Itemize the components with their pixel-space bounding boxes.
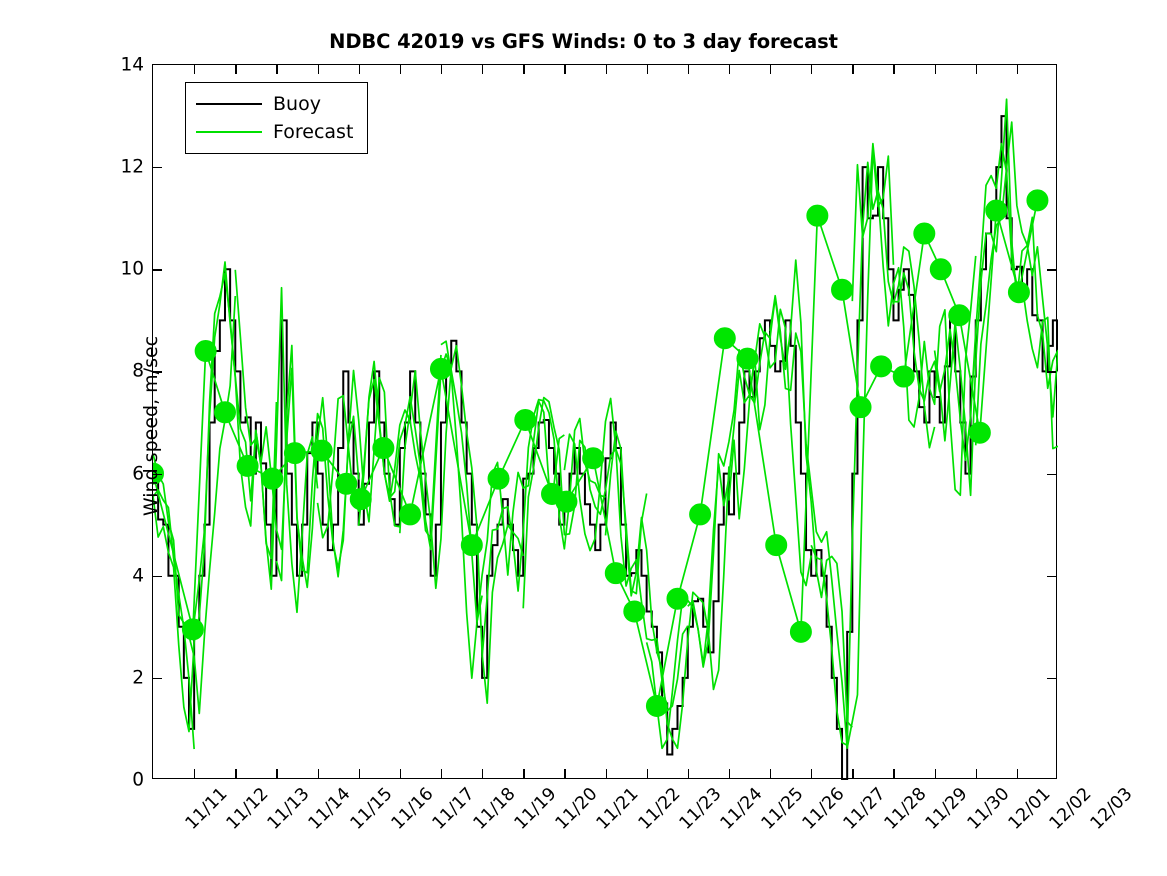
x-tick-mark [276, 65, 277, 74]
x-tick-mark [1017, 65, 1018, 74]
forecast-marker-point [969, 422, 990, 443]
forecast-marker-point [832, 279, 853, 300]
y-tick-label: 2 [132, 667, 144, 688]
y-tick-mark [153, 678, 162, 679]
forecast-run-line [647, 332, 770, 748]
y-tick-label: 8 [132, 361, 144, 382]
x-tick-label: 11/13 [264, 784, 314, 834]
x-tick-mark [976, 65, 977, 74]
x-tick-mark [852, 65, 853, 74]
forecast-run-line [893, 144, 1016, 461]
x-tick-mark [523, 65, 524, 74]
forecast-marker-point [311, 440, 332, 461]
y-tick-mark [153, 167, 162, 168]
x-tick-mark [935, 769, 936, 778]
x-tick-mark [647, 65, 648, 74]
x-tick-mark [770, 769, 771, 778]
figure-canvas: NDBC 42019 vs GFS Winds: 0 to 3 day fore… [0, 0, 1167, 875]
forecast-marker-point [1027, 190, 1048, 211]
x-tick-mark [235, 65, 236, 74]
forecast-marker-point [556, 491, 577, 512]
forecast-marker-point [949, 305, 970, 326]
x-tick-label: 11/28 [881, 784, 931, 834]
x-tick-label: 11/20 [552, 784, 602, 834]
forecast-marker-point [737, 348, 758, 369]
legend-swatch-forecast [196, 131, 262, 133]
legend-item-forecast: Forecast [196, 118, 353, 146]
y-tick-label: 6 [132, 463, 144, 484]
forecast-marker-point [214, 402, 235, 423]
x-tick-mark [482, 65, 483, 74]
x-tick-mark [811, 769, 812, 778]
forecast-marker-point [766, 535, 787, 556]
x-tick-label: 11/11 [182, 784, 232, 834]
x-tick-label: 11/19 [511, 784, 561, 834]
x-tick-mark [235, 769, 236, 778]
x-tick-mark [482, 769, 483, 778]
x-tick-mark [194, 769, 195, 778]
x-tick-mark [318, 769, 319, 778]
x-tick-mark [647, 769, 648, 778]
y-tick-mark [153, 269, 162, 270]
x-tick-mark [606, 65, 607, 74]
x-tick-label: 11/23 [675, 784, 725, 834]
forecast-marker-point [195, 341, 216, 362]
forecast-marker-point [930, 259, 951, 280]
x-tick-label: 11/22 [634, 784, 684, 834]
x-tick-mark [441, 65, 442, 74]
legend-label-forecast: Forecast [273, 123, 353, 142]
x-tick-label: 12/02 [1046, 784, 1096, 834]
legend-swatch-buoy [196, 103, 262, 105]
x-tick-label: 11/14 [305, 784, 355, 834]
forecast-marker-point [430, 358, 451, 379]
x-tick-mark [852, 769, 853, 778]
forecast-marker-point [624, 601, 645, 622]
forecast-marker-point [871, 356, 892, 377]
x-tick-mark [441, 769, 442, 778]
forecast-marker-point [373, 438, 394, 459]
legend-label-buoy: Buoy [273, 95, 321, 114]
x-tick-label: 12/03 [1087, 784, 1137, 834]
forecast-marker-point [914, 223, 935, 244]
forecast-marker-point [515, 409, 536, 430]
x-tick-label: 11/17 [429, 784, 479, 834]
x-tick-mark [523, 769, 524, 778]
forecast-run-line [482, 400, 605, 658]
forecast-marker-point [667, 588, 688, 609]
x-tick-mark [729, 65, 730, 74]
legend: Buoy Forecast [185, 82, 368, 154]
forecast-marker-point [714, 328, 735, 349]
x-tick-label: 11/30 [963, 784, 1013, 834]
x-tick-mark [811, 65, 812, 74]
x-tick-mark [564, 769, 565, 778]
x-tick-label: 11/12 [223, 784, 273, 834]
series-forecast [153, 99, 1058, 749]
x-tick-mark [893, 769, 894, 778]
forecast-marker-point [400, 504, 421, 525]
forecast-marker-point [893, 366, 914, 387]
x-tick-label: 11/18 [470, 784, 520, 834]
x-tick-mark [400, 769, 401, 778]
x-tick-mark [359, 769, 360, 778]
y-tick-mark [1047, 269, 1056, 270]
forecast-marker-point [850, 397, 871, 418]
forecast-marker-point [284, 443, 305, 464]
x-tick-mark [976, 769, 977, 778]
y-tick-mark [153, 371, 162, 372]
forecast-run-line [359, 354, 482, 622]
forecast-marker-point [605, 563, 626, 584]
forecast-marker-point [262, 468, 283, 489]
forecast-marker-point [583, 448, 604, 469]
x-tick-label: 11/29 [922, 784, 972, 834]
forecast-marker-point [488, 468, 509, 489]
x-tick-label: 11/21 [593, 784, 643, 834]
x-tick-label: 11/26 [799, 784, 849, 834]
plot-canvas [153, 65, 1058, 780]
y-tick-mark [1047, 678, 1056, 679]
y-tick-mark [153, 474, 162, 475]
x-tick-label: 11/27 [840, 784, 890, 834]
forecast-marker-point [790, 621, 811, 642]
forecast-run-line [935, 99, 1058, 495]
forecast-run-line [729, 260, 852, 727]
x-tick-mark [688, 769, 689, 778]
x-tick-mark [893, 65, 894, 74]
legend-item-buoy: Buoy [196, 90, 353, 118]
x-tick-mark [318, 65, 319, 74]
y-tick-mark [153, 576, 162, 577]
forecast-marker-point [986, 200, 1007, 221]
x-tick-mark [770, 65, 771, 74]
x-tick-mark [729, 769, 730, 778]
page-title: NDBC 42019 vs GFS Winds: 0 to 3 day fore… [0, 30, 1167, 53]
plot-area: Wind speed, m/sec 02468101214 11/1111/12… [152, 64, 1057, 779]
y-tick-label: 4 [132, 565, 144, 586]
forecast-marker-point [807, 205, 828, 226]
x-tick-label: 11/24 [717, 784, 767, 834]
forecast-markers [153, 190, 1048, 717]
x-tick-mark [935, 65, 936, 74]
x-tick-mark [606, 769, 607, 778]
y-tick-mark [1047, 576, 1056, 577]
x-tick-mark [564, 65, 565, 74]
x-tick-mark [400, 65, 401, 74]
x-tick-label: 11/15 [346, 784, 396, 834]
forecast-marker-point [1008, 282, 1029, 303]
forecast-marker-point [646, 695, 667, 716]
forecast-marker-point [182, 619, 203, 640]
forecast-marker-point [237, 455, 258, 476]
forecast-run-line [153, 490, 194, 749]
forecast-marker-point [350, 489, 371, 510]
y-tick-label: 14 [120, 55, 144, 76]
x-tick-label: 11/16 [387, 784, 437, 834]
y-tick-mark [1047, 167, 1056, 168]
y-tick-mark [1047, 371, 1056, 372]
x-tick-mark [276, 769, 277, 778]
y-tick-label: 12 [120, 157, 144, 178]
x-tick-label: 12/01 [1004, 784, 1054, 834]
x-tick-label: 11/25 [758, 784, 808, 834]
y-tick-label: 0 [132, 770, 144, 791]
y-tick-mark [1047, 474, 1056, 475]
forecast-run-line [811, 162, 934, 745]
x-tick-mark [359, 65, 360, 74]
x-tick-mark [194, 65, 195, 74]
x-tick-mark [688, 65, 689, 74]
forecast-marker-point [461, 535, 482, 556]
forecast-marker-point [690, 504, 711, 525]
x-tick-mark [1017, 769, 1018, 778]
y-tick-label: 10 [120, 259, 144, 280]
